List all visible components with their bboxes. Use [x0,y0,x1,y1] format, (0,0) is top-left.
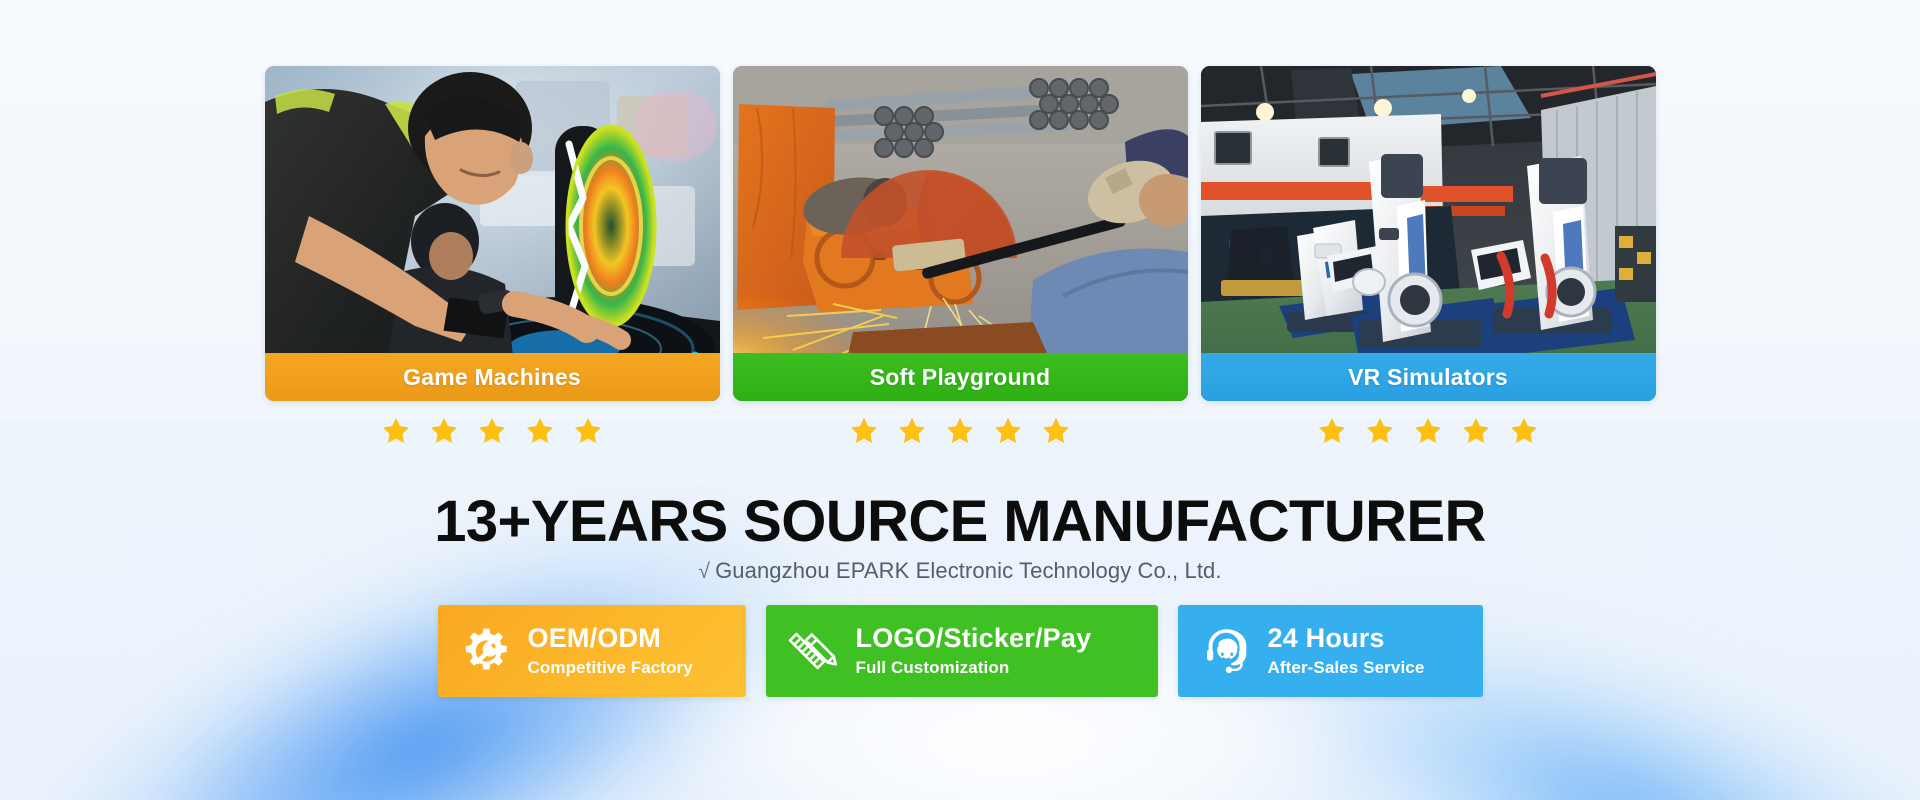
card-image-frame: VR Simulators [1201,66,1656,401]
ruler-pencil-icon [788,625,840,677]
service-badges: OEM/ODM Competitive Factory LOGO/Sticker [0,605,1920,697]
rating-stars-vr-simulators [1201,416,1656,445]
category-card-soft-playground[interactable]: Soft Playground [733,66,1188,445]
category-card-vr-simulators[interactable]: VR Simulators [1201,66,1656,445]
badge-text: LOGO/Sticker/Pay Full Customization [856,624,1092,678]
badge-title: LOGO/Sticker/Pay [856,624,1092,654]
badge-text: OEM/ODM Competitive Factory [528,624,693,678]
star-icon [849,416,879,445]
star-icon [945,416,975,445]
card-caption-soft-playground: Soft Playground [733,353,1188,401]
star-icon [573,416,603,445]
main-headline: 13+YEARS SOURCE MANUFACTURER [0,488,1920,555]
card-caption-vr-simulators: VR Simulators [1201,353,1656,401]
category-card-game-machines[interactable]: Game Machines [265,66,720,445]
rating-stars-soft-playground [733,416,1188,445]
star-icon [1461,416,1491,445]
company-subline: √Guangzhou EPARK Electronic Technology C… [0,558,1920,584]
star-icon [429,416,459,445]
badge-oem-odm[interactable]: OEM/ODM Competitive Factory [438,605,746,697]
star-icon [477,416,507,445]
star-icon [1365,416,1395,445]
badge-title: OEM/ODM [528,624,693,654]
photo-game-machines [265,66,720,401]
badge-logo-sticker-pay[interactable]: LOGO/Sticker/Pay Full Customization [766,605,1158,697]
star-icon [993,416,1023,445]
star-icon [525,416,555,445]
badge-24-hours[interactable]: 24 Hours After-Sales Service [1178,605,1483,697]
promo-banner: Game Machines [0,0,1920,800]
star-icon [1317,416,1347,445]
card-image-frame: Soft Playground [733,66,1188,401]
check-mark-icon: √ [698,560,710,583]
badge-subtitle: After-Sales Service [1268,658,1425,678]
card-image-frame: Game Machines [265,66,720,401]
company-name: Guangzhou EPARK Electronic Technology Co… [715,558,1222,583]
badge-text: 24 Hours After-Sales Service [1268,624,1425,678]
badge-title: 24 Hours [1268,624,1425,654]
star-icon [1413,416,1443,445]
card-caption-game-machines: Game Machines [265,353,720,401]
headset-support-icon [1200,625,1252,677]
product-category-cards: Game Machines [0,66,1920,445]
photo-vr-simulators [1201,66,1656,401]
star-icon [897,416,927,445]
star-icon [1509,416,1539,445]
photo-soft-playground [733,66,1188,401]
badge-subtitle: Competitive Factory [528,658,693,678]
star-icon [381,416,411,445]
gear-wrench-icon [460,625,512,677]
star-icon [1041,416,1071,445]
rating-stars-game-machines [265,416,720,445]
badge-subtitle: Full Customization [856,658,1092,678]
